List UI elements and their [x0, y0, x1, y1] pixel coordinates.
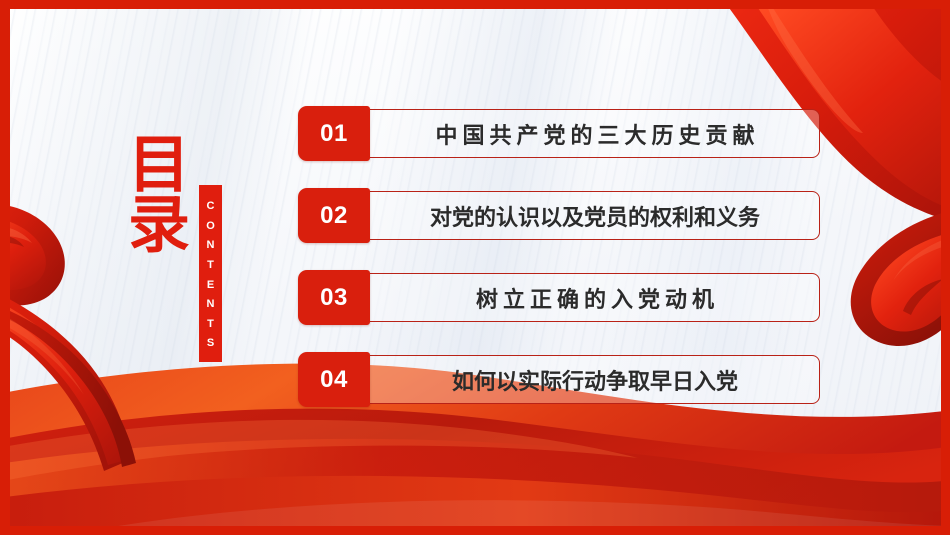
contents-item-04[interactable]: 04 如何以实际行动争取早日入党 [298, 352, 820, 407]
contents-item-label: 如何以实际行动争取早日入党 [370, 355, 820, 404]
contents-item-number-badge: 01 [298, 106, 370, 161]
contents-item-label: 中国共产党的三大历史贡献 [370, 109, 820, 158]
contents-menu-list: 01 中国共产党的三大历史贡献 02 对党的认识以及党员的权利和义务 03 树立… [298, 106, 820, 407]
contents-item-03[interactable]: 03 树立正确的入党动机 [298, 270, 820, 325]
slide-root: 目录 C O N T E N T S 01 中国共产党的三大历史贡献 02 [0, 0, 950, 535]
contents-item-02[interactable]: 02 对党的认识以及党员的权利和义务 [298, 188, 820, 243]
contents-item-label: 树立正确的入党动机 [370, 273, 820, 322]
contents-letter: T [207, 256, 214, 276]
contents-item-01[interactable]: 01 中国共产党的三大历史贡献 [298, 106, 820, 161]
contents-letter: C [207, 197, 215, 217]
contents-letter: N [207, 295, 215, 315]
contents-title-block: 目录 C O N T E N T S [128, 135, 228, 365]
slide-paper-background: 目录 C O N T E N T S 01 中国共产党的三大历史贡献 02 [10, 9, 941, 526]
contents-letter: O [206, 217, 215, 237]
page-title: 目录 [128, 135, 202, 254]
contents-letter: N [207, 236, 215, 256]
contents-item-number-badge: 02 [298, 188, 370, 243]
contents-item-number-badge: 03 [298, 270, 370, 325]
contents-letter: S [207, 334, 214, 354]
contents-letter: E [207, 276, 214, 296]
contents-vertical-bar: C O N T E N T S [199, 185, 222, 362]
contents-letter: T [207, 315, 214, 335]
contents-item-label: 对党的认识以及党员的权利和义务 [370, 191, 820, 240]
contents-item-number-badge: 04 [298, 352, 370, 407]
